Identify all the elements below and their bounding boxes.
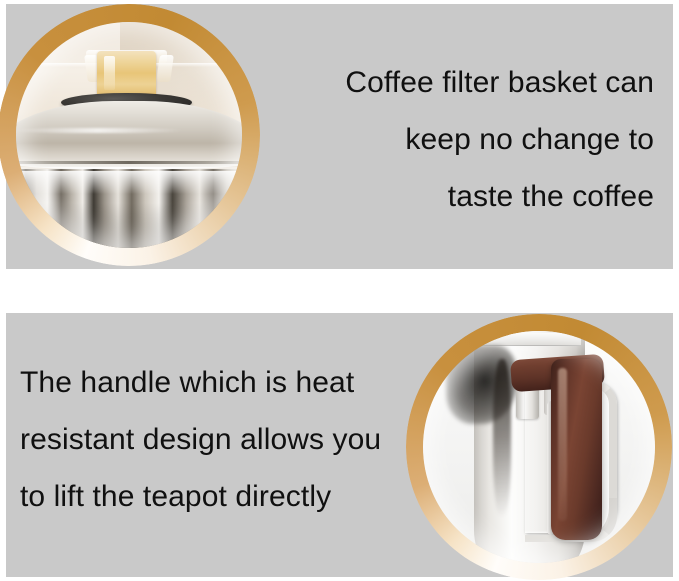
- pot-body-shadow: [16, 203, 242, 248]
- caption-line: Coffee filter basket can: [292, 68, 654, 98]
- lid-seam-dark: [16, 161, 242, 164]
- steel-lid-dome: [16, 101, 242, 169]
- photo-inner-circle: 8 6 4: [423, 331, 655, 563]
- teapot-reflection-streak: [493, 359, 512, 517]
- caption-line: resistant design allows you: [20, 425, 408, 455]
- glass-knob-highlight: [104, 56, 115, 90]
- photo-inner-circle: [16, 22, 242, 248]
- caption-line: to lift the teapot directly: [20, 482, 408, 512]
- percolator-lid-illustration: [16, 22, 242, 248]
- teapot-wooden-handle-photo: 8 6 4: [406, 314, 672, 580]
- teapot-handle-illustration: 8 6 4: [423, 331, 655, 563]
- image-canvas: Coffee filter basket can keep no change …: [0, 0, 679, 581]
- caption-line: keep no change to: [292, 125, 654, 155]
- wooden-handle-highlight: [558, 368, 567, 521]
- caption-line: taste the coffee: [292, 182, 654, 212]
- dome-highlight: [16, 128, 185, 133]
- coffee-percolator-lid-photo: [0, 4, 260, 266]
- pot-body-shine: [16, 171, 242, 194]
- caption-filter-basket: Coffee filter basket can keep no change …: [292, 68, 654, 212]
- caption-heat-resistant-handle: The handle which is heat resistant desig…: [20, 368, 408, 512]
- caption-line: The handle which is heat: [20, 368, 408, 398]
